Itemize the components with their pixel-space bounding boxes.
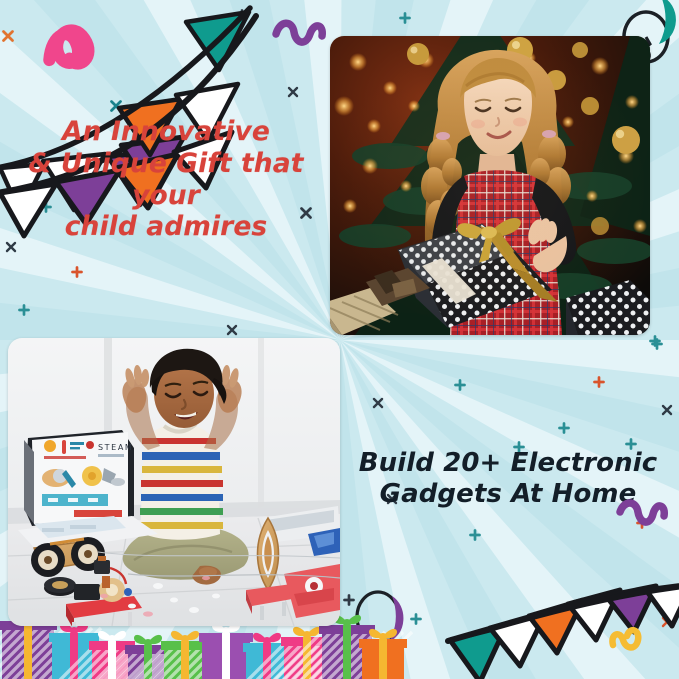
streamer-purple-bottom: [0, 0, 679, 679]
product-listing-image: STEAM: [0, 0, 679, 679]
